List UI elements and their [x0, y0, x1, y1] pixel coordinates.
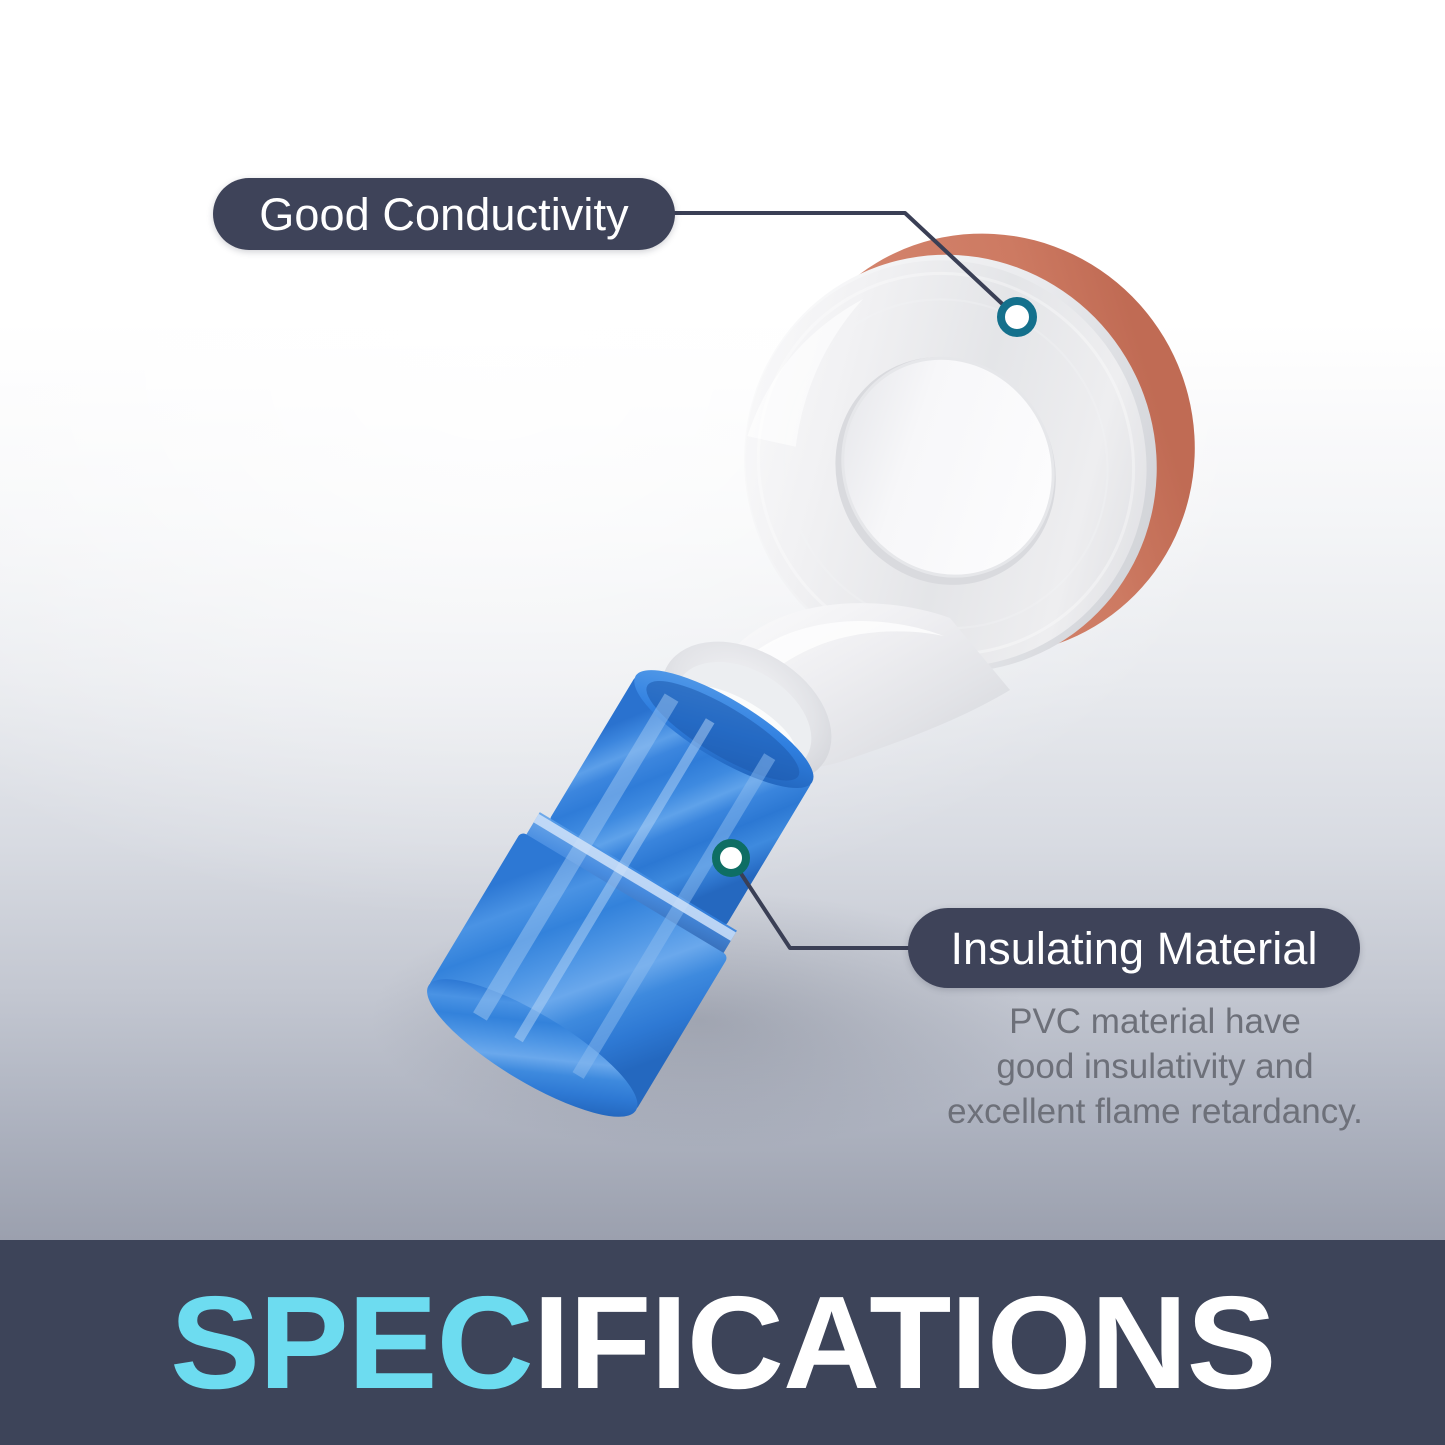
callout-dot-insulating [716, 843, 746, 873]
callout-label-insulating-material[interactable]: Insulating Material [908, 908, 1360, 988]
infographic-canvas: Good Conductivity Insulating Material PV… [0, 0, 1445, 1445]
description-line-1: PVC material have [930, 1000, 1380, 1045]
callout-label-text: Insulating Material [950, 926, 1317, 971]
callout-label-text: Good Conductivity [259, 192, 628, 237]
connector-line-conductivity [675, 213, 1012, 313]
description-line-3: excellent flame retardancy. [930, 1090, 1380, 1135]
banner-title-rest: IFICATIONS [532, 1269, 1275, 1416]
description-line-2: good insulativity and [930, 1045, 1380, 1090]
callout-dot-conductivity [1001, 301, 1033, 333]
banner-title: SPECIFICATIONS [170, 1277, 1275, 1409]
specifications-banner: SPECIFICATIONS [0, 1240, 1445, 1445]
insulating-material-description: PVC material have good insulativity and … [930, 1000, 1380, 1134]
connector-line-insulating [736, 866, 912, 948]
banner-title-accent: SPEC [170, 1269, 533, 1416]
callout-label-good-conductivity[interactable]: Good Conductivity [213, 178, 675, 250]
